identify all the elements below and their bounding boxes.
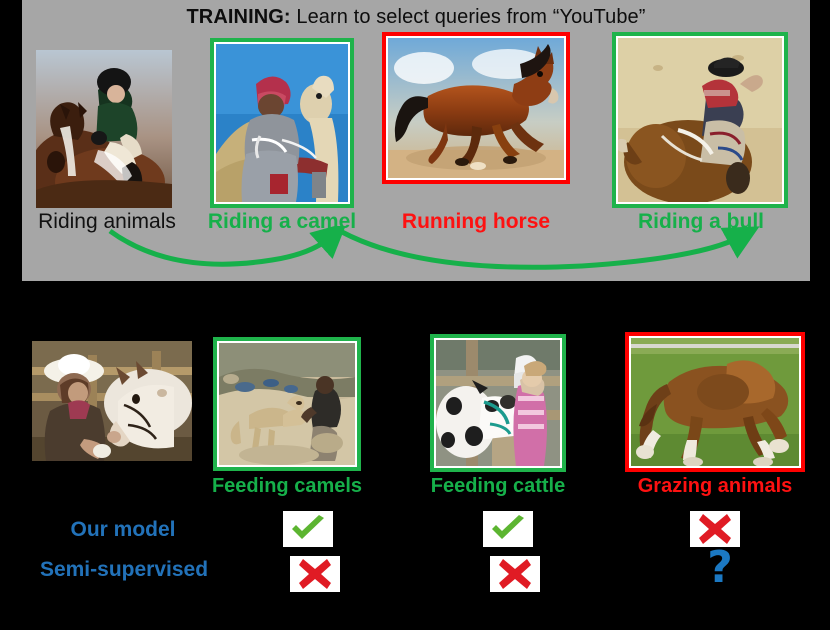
training-image-frame-3 (612, 32, 788, 208)
training-title-rest: Learn to select queries from “YouTube” (291, 6, 646, 28)
test-image-2[interactable] (625, 332, 805, 472)
test-image-frame-1 (430, 334, 566, 472)
check-icon (289, 515, 327, 543)
result-row-label-1: Semi-supervised (18, 558, 230, 582)
feeding-camels-photo (219, 343, 355, 465)
feeding-horse-query-photo (32, 341, 192, 461)
arrow-riding-animals-to-riding-a-camel (110, 231, 332, 264)
cross-icon (499, 559, 531, 589)
riding-animals-photo (36, 50, 172, 208)
test-caption-0: Feeding camels (205, 475, 369, 498)
training-arrows (22, 226, 810, 281)
test-caption-1: Feeding cattle (428, 475, 568, 498)
arrow-riding-a-camel-to-riding-a-bull (342, 232, 742, 267)
cross-icon (299, 559, 331, 589)
training-title-bold: TRAINING: (186, 6, 290, 28)
training-title: TRAINING: Learn to select queries from “… (22, 6, 810, 29)
cross-icon (699, 514, 731, 544)
result-mark-cross-1-0 (290, 556, 340, 592)
training-image-0[interactable] (36, 50, 172, 208)
training-image-frame-0 (36, 50, 172, 208)
feeding-cattle-photo (436, 340, 560, 466)
question-mark-icon: ? (707, 546, 733, 590)
riding-a-bull-photo (618, 38, 782, 202)
check-icon (489, 515, 527, 543)
riding-a-camel-photo (216, 44, 348, 202)
test-image-0[interactable] (213, 337, 361, 471)
training-image-3[interactable] (612, 32, 788, 208)
grazing-animals-photo (631, 338, 799, 466)
training-image-frame-1 (210, 38, 354, 208)
result-row-label-0: Our model (28, 518, 218, 542)
test-caption-2: Grazing animals (622, 475, 808, 498)
result-mark-check-0-0 (283, 511, 333, 547)
running-horse-photo (388, 38, 564, 178)
test-query-image[interactable] (32, 341, 192, 461)
training-image-frame-2 (382, 32, 570, 184)
test-image-frame-0 (213, 337, 361, 471)
training-image-2[interactable] (382, 32, 570, 184)
test-image-1[interactable] (430, 334, 566, 472)
test-image-frame-2 (625, 332, 805, 472)
result-mark-cross-1-1 (490, 556, 540, 592)
result-mark-question-1-2: ? (695, 550, 745, 586)
training-panel: TRAINING: Learn to select queries from “… (22, 0, 810, 281)
result-mark-check-0-1 (483, 511, 533, 547)
training-image-1[interactable] (210, 38, 354, 208)
